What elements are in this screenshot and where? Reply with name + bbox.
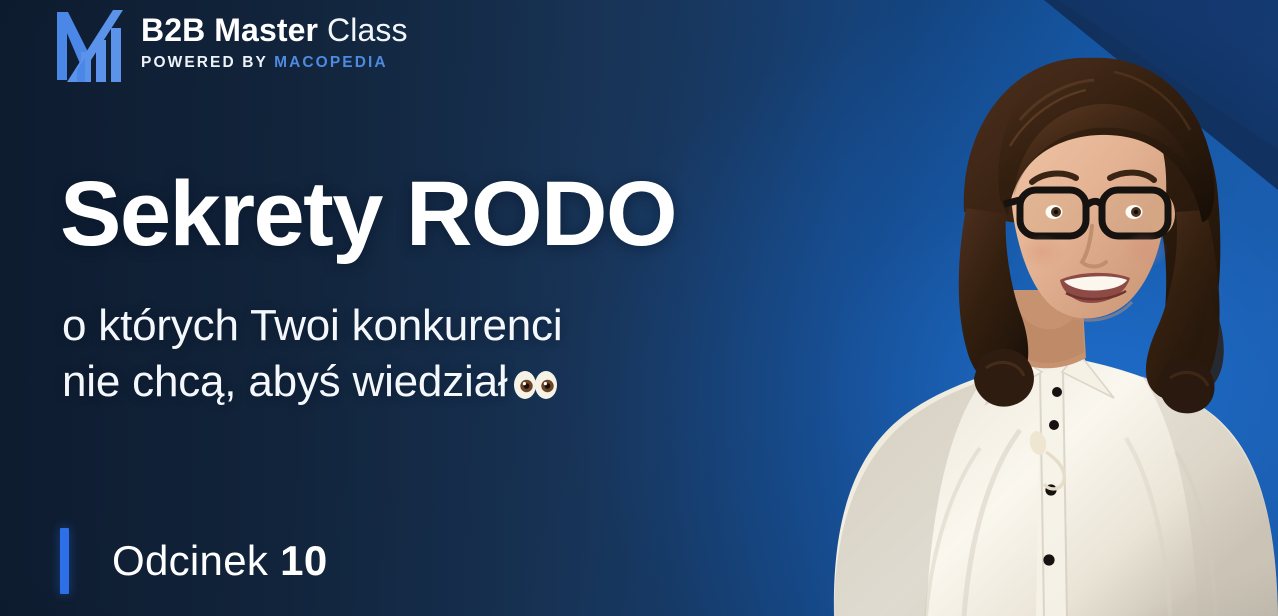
brand-title-strong: B2B Master [141, 12, 318, 48]
brand-title: B2B Master Class [141, 14, 408, 48]
eyes-icon [513, 368, 559, 402]
episode-label-text: Odcinek [112, 537, 268, 584]
subtitle-line-1: o których Twoi konkurenci [62, 298, 562, 354]
subtitle-line-2-wrap: nie chcą, abyś wiedział [62, 354, 562, 410]
brand-powered-by: POWERED BY MACOPEDIA [141, 54, 408, 72]
macopedia-m-bars-logo-icon [55, 8, 127, 84]
video-title-card: B2B Master Class POWERED BY MACOPEDIA Se… [0, 0, 1278, 616]
episode-label: Odcinek 10 [112, 537, 328, 585]
brand-logo[interactable]: B2B Master Class POWERED BY MACOPEDIA [55, 8, 408, 84]
brand-logo-text: B2B Master Class POWERED BY MACOPEDIA [141, 8, 408, 72]
powered-by-prefix: POWERED BY [141, 54, 274, 71]
speaker-portrait [814, 0, 1278, 616]
subtitle: o których Twoi konkurenci nie chcą, abyś… [62, 298, 562, 411]
subtitle-line-2: nie chcą, abyś wiedział [62, 357, 507, 406]
episode-badge: Odcinek 10 [60, 528, 328, 594]
page-title: Sekrety RODO [60, 168, 676, 262]
brand-title-light: Class [318, 12, 408, 48]
episode-accent-bar [60, 528, 69, 594]
episode-number: 10 [280, 537, 327, 584]
powered-by-brand: MACOPEDIA [274, 54, 388, 71]
